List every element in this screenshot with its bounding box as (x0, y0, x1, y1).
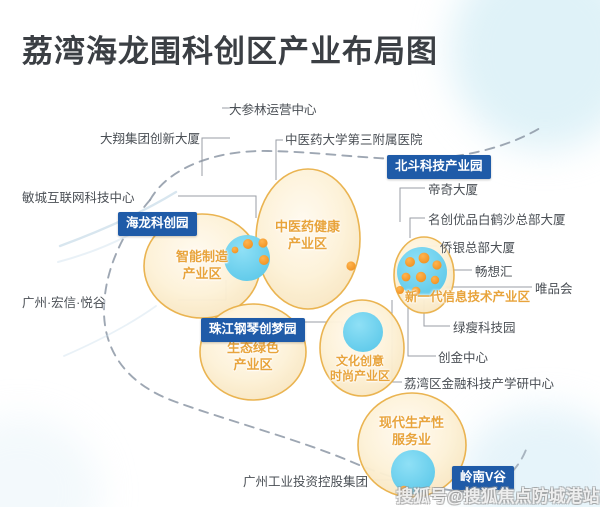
label-lw-fintech: 荔湾区金融科技产学研中心 (404, 378, 554, 391)
badge-lingnan[interactable]: 岭南V谷 (452, 466, 514, 490)
enterprise-dot (419, 253, 430, 264)
label-daxiang: 大翔集团创新大厦 (100, 133, 200, 146)
label-mincheng: 敏城互联网科技中心 (22, 192, 135, 205)
zone-ellipse (256, 169, 360, 309)
enterprise-dot (400, 486, 408, 494)
label-changxianghui: 畅想汇 (475, 266, 513, 279)
label-chuangjin: 创金中心 (438, 352, 488, 365)
badge-hailong[interactable]: 海龙科创园 (118, 212, 197, 236)
label-diqi: 帝奇大厦 (428, 184, 478, 197)
project-node (391, 450, 435, 494)
label-miniso: 名创优品白鹤沙总部大厦 (428, 214, 566, 227)
enterprise-dot (243, 239, 253, 249)
infographic-canvas: 荔湾海龙围科创区产业布局图 (0, 0, 600, 507)
enterprise-dot (232, 247, 239, 254)
enterprise-dot (431, 276, 439, 284)
label-gz-industrial: 广州工业投资控股集团 (243, 476, 368, 489)
enterprise-dot (396, 286, 404, 294)
project-node (343, 312, 383, 352)
label-vipshop: 唯品会 (535, 283, 573, 296)
enterprise-dot (259, 255, 269, 265)
label-lvshou: 绿瘦科技园 (453, 322, 516, 335)
enterprise-dot (405, 257, 415, 267)
badge-beidou[interactable]: 北斗科技产业园 (387, 155, 491, 179)
label-dashenlin: 大参林运营中心 (229, 104, 317, 117)
enterprise-dot (346, 261, 355, 270)
enterprise-dot (416, 272, 426, 282)
enterprise-dot (432, 260, 441, 269)
enterprise-dot (258, 238, 267, 247)
label-guangzhou-hx: 广州·宏信·悦谷 (22, 297, 105, 310)
label-tcm-hospital: 中医药大学第三附属医院 (285, 134, 423, 147)
enterprise-dot (412, 287, 421, 296)
badge-zhujiang[interactable]: 珠江钢琴创梦园 (201, 318, 305, 342)
label-qiaoyin: 侨银总部大厦 (440, 242, 515, 255)
enterprise-dot (402, 273, 411, 282)
